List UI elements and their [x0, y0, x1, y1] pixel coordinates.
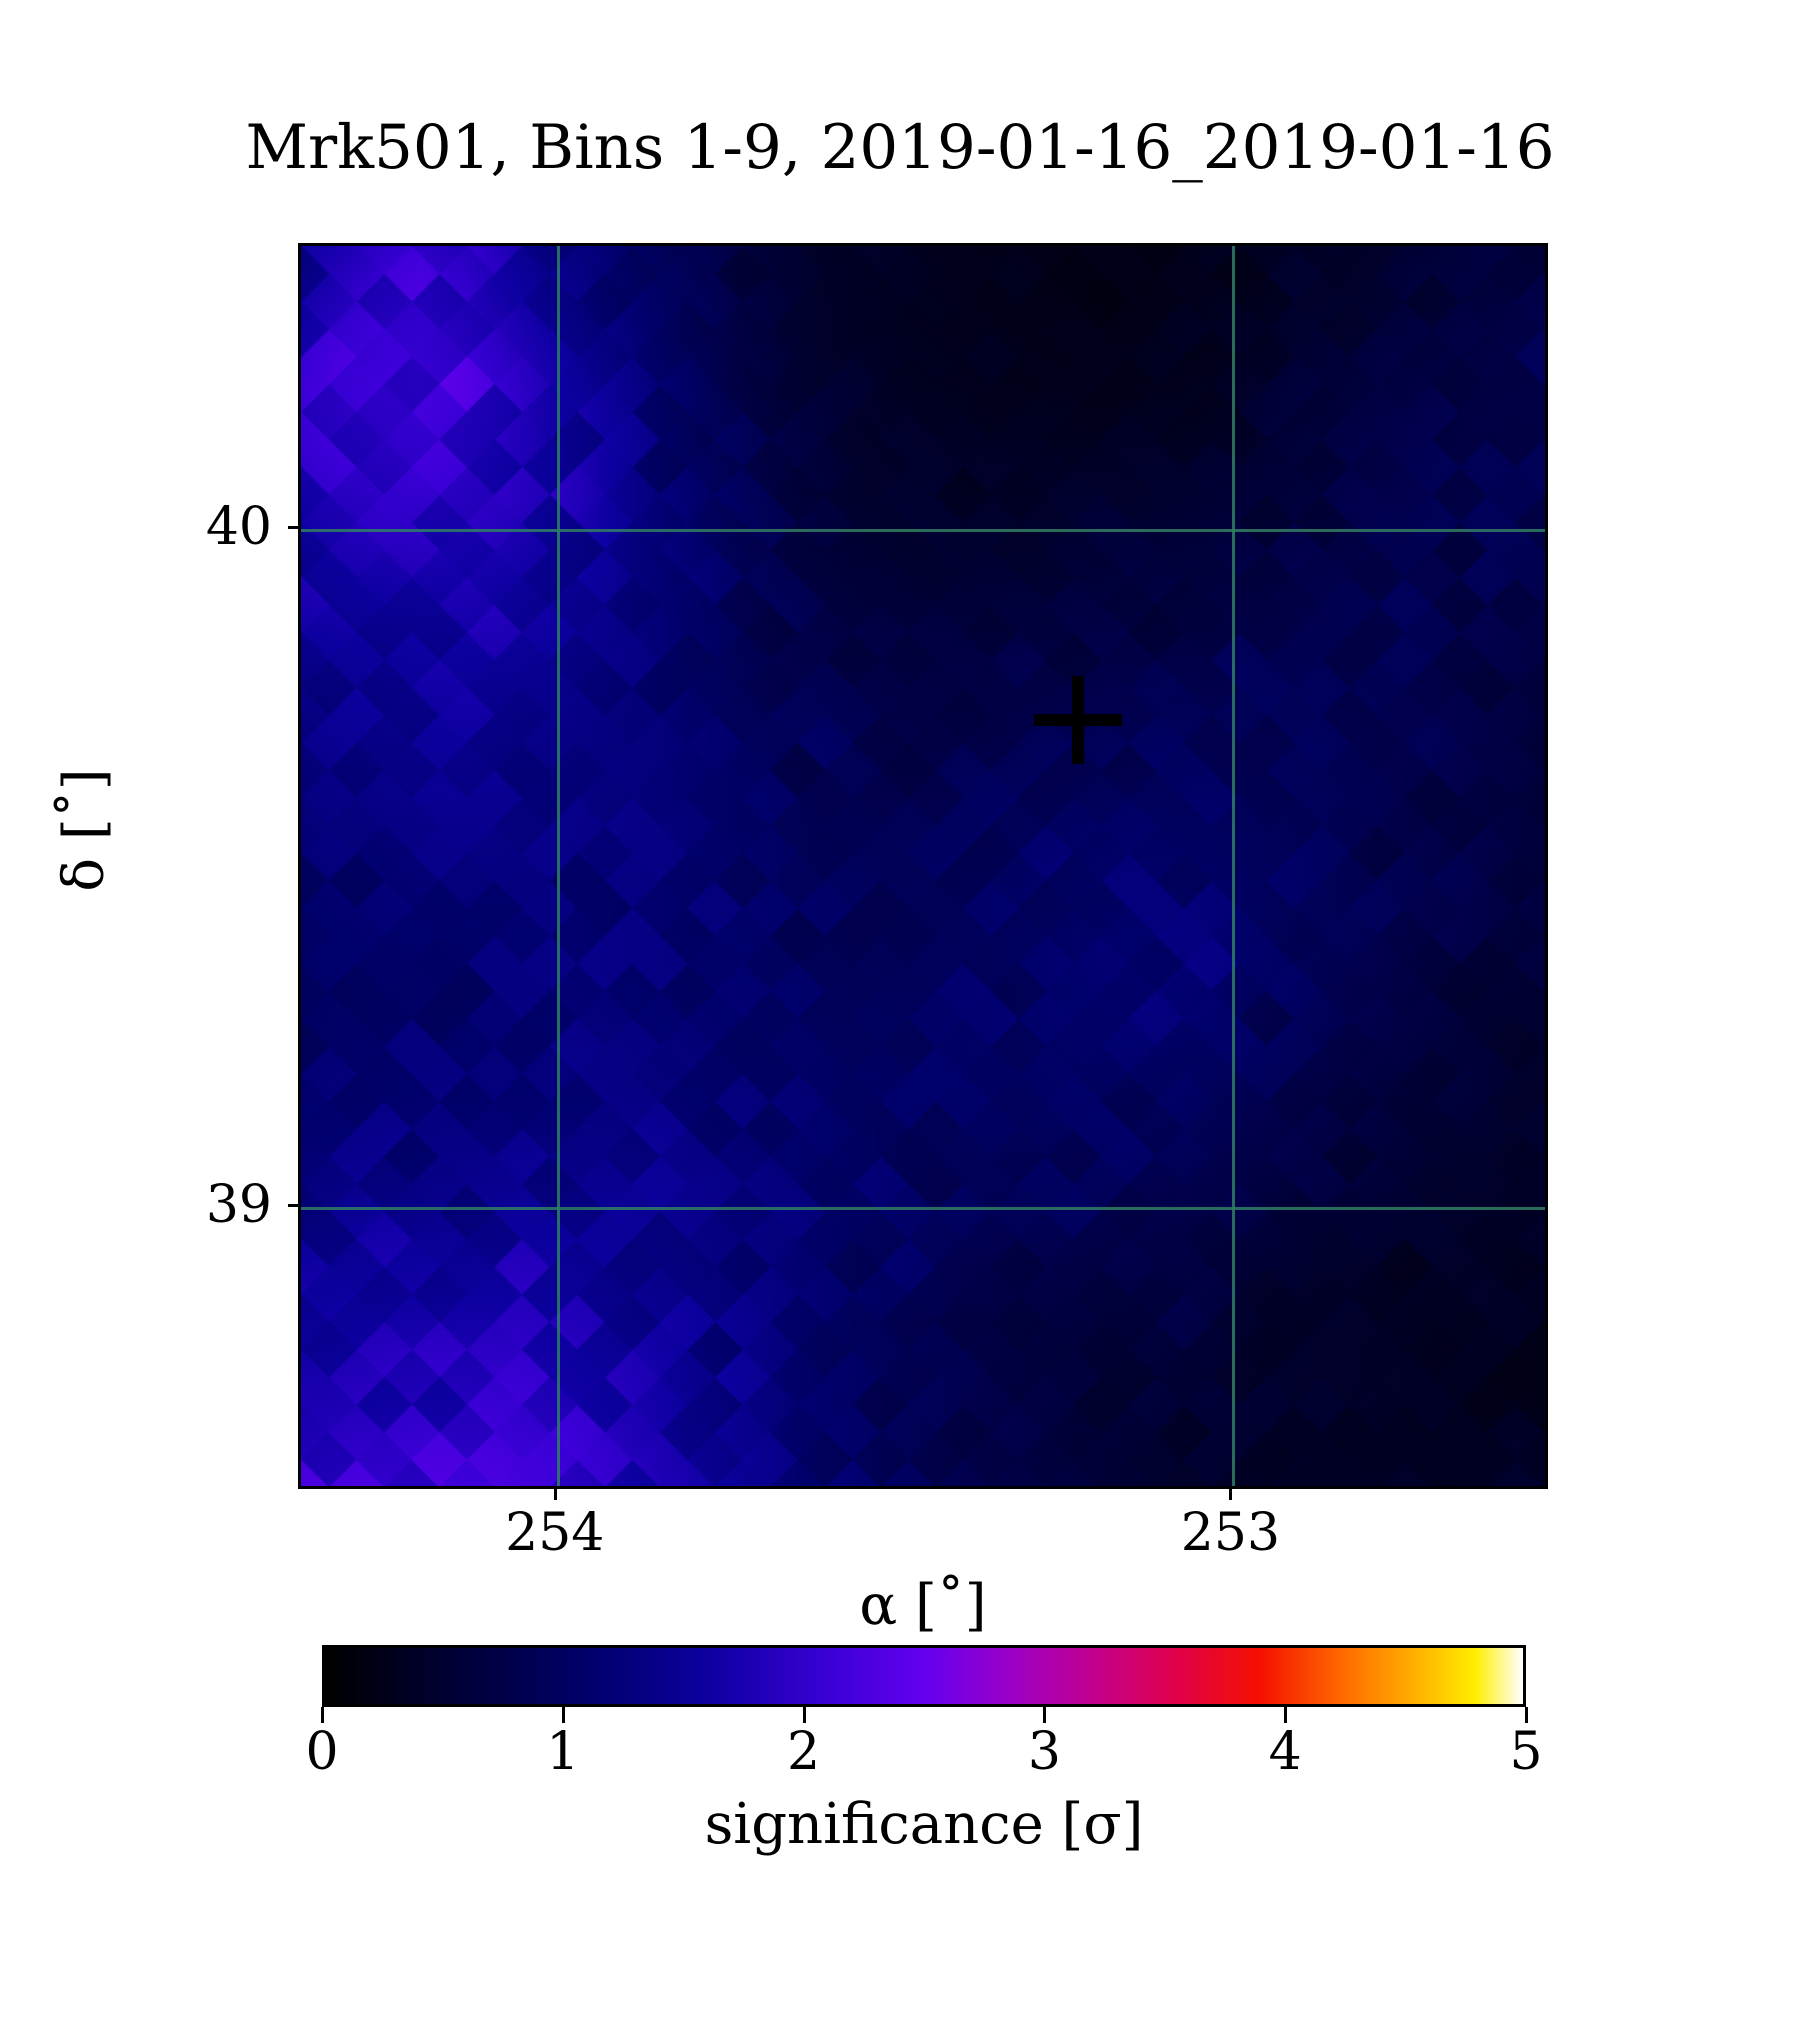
- tick-mark-delta-40: [288, 526, 299, 529]
- colorbar-tick-3: [1043, 1707, 1046, 1723]
- colorbar-ticklabel-4: 4: [1205, 1724, 1365, 1780]
- colorbar-label: significance [σ]: [322, 1793, 1526, 1857]
- colorbar-ticklabel-3: 3: [964, 1724, 1124, 1780]
- y-axis-ticklabel-40: 40: [72, 501, 272, 553]
- y-axis-label: δ [˚]: [55, 630, 115, 1030]
- colorbar[interactable]: [322, 1645, 1526, 1707]
- gridline-alpha-254: [557, 246, 560, 1486]
- colorbar-tick-5: [1525, 1707, 1528, 1723]
- tick-mark-alpha-253: [1229, 1489, 1232, 1500]
- colorbar-ticklabel-2: 2: [724, 1724, 884, 1780]
- y-axis-ticklabel-39: 39: [72, 1179, 272, 1231]
- tick-mark-alpha-254: [554, 1489, 557, 1500]
- gridline-delta-40: [301, 529, 1545, 532]
- colorbar-tick-1: [562, 1707, 565, 1723]
- colorbar-ticklabel-5: 5: [1446, 1724, 1606, 1780]
- gridline-delta-39: [301, 1207, 1545, 1210]
- colorbar-ticklabel-0: 0: [242, 1724, 402, 1780]
- colorbar-tick-0: [321, 1707, 324, 1723]
- colorbar-gradient: [325, 1648, 1523, 1704]
- significance-map-axes[interactable]: [298, 243, 1548, 1489]
- significance-heatmap: [301, 246, 1548, 1489]
- x-axis-label: α [˚]: [298, 1576, 1548, 1636]
- x-axis-ticklabel-253: 253: [1100, 1507, 1360, 1559]
- x-axis-ticklabel-254: 254: [425, 1507, 685, 1559]
- gridline-alpha-253: [1232, 246, 1235, 1486]
- colorbar-ticklabel-1: 1: [483, 1724, 643, 1780]
- tick-mark-delta-39: [288, 1204, 299, 1207]
- figure-canvas: Mrk501, Bins 1-9, 2019-01-16_2019-01-16 …: [0, 0, 1800, 2025]
- colorbar-tick-4: [1284, 1707, 1287, 1723]
- colorbar-tick-2: [803, 1707, 806, 1723]
- page-title: Mrk501, Bins 1-9, 2019-01-16_2019-01-16: [0, 112, 1800, 184]
